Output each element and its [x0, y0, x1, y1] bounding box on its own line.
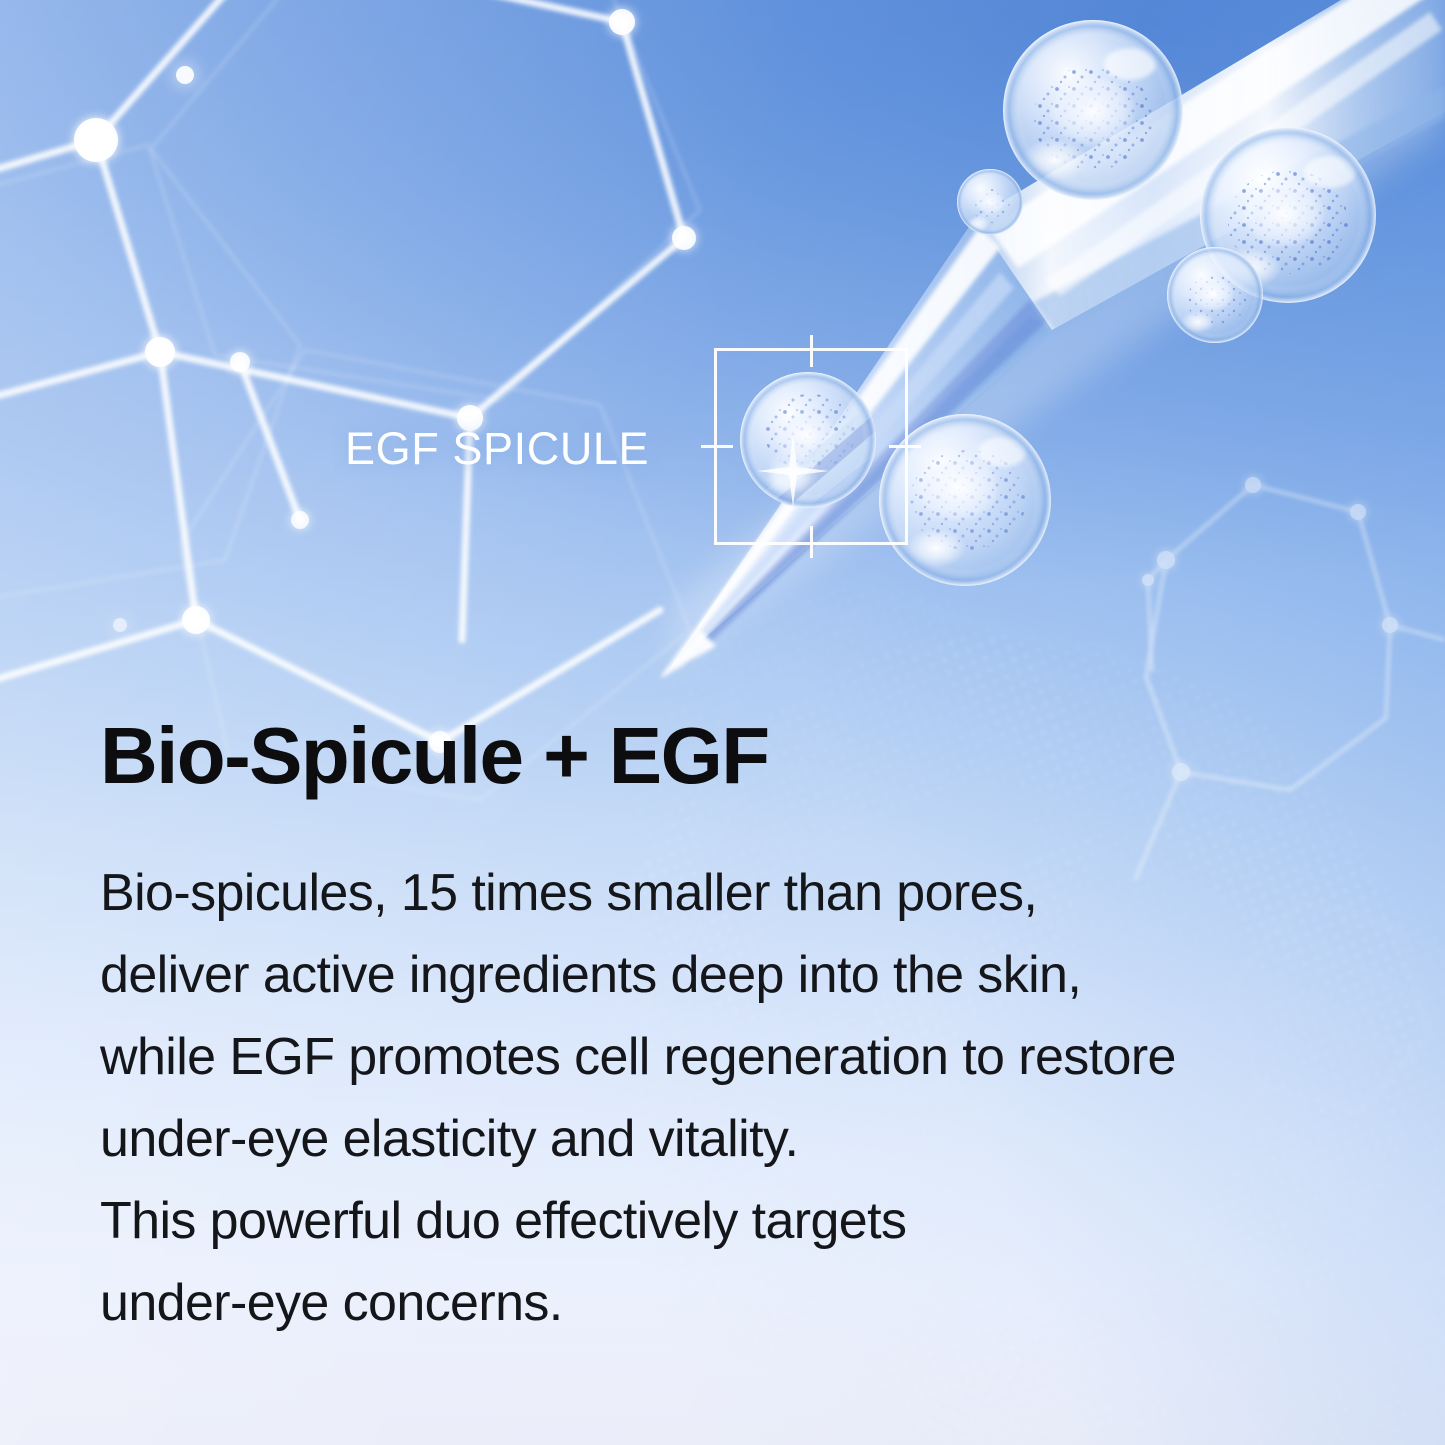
body-line: under-eye concerns.: [100, 1262, 1360, 1344]
crosshair-tick-right: [889, 445, 921, 448]
body-line: while EGF promotes cell regeneration to …: [100, 1016, 1360, 1098]
body-line: This powerful duo effectively targets: [100, 1180, 1360, 1262]
body-line: Bio-spicules, 15 times smaller than pore…: [100, 852, 1360, 934]
page-title: Bio-Spicule + EGF: [100, 716, 1360, 796]
copy-block: Bio-Spicule + EGF Bio-spicules, 15 times…: [100, 716, 1360, 1344]
body-copy: Bio-spicules, 15 times smaller than pore…: [100, 796, 1360, 1344]
target-frame: [714, 348, 908, 545]
product-feature-banner: EGF SPICULE Bio-Spicule + EGF Bio-spicul…: [0, 0, 1445, 1445]
crosshair-tick-bottom: [810, 526, 813, 558]
body-line: under-eye elasticity and vitality.: [100, 1098, 1360, 1180]
crosshair-tick-top: [810, 335, 813, 367]
egf-spicule-callout-label: EGF SPICULE: [345, 423, 649, 475]
crosshair-tick-left: [701, 445, 733, 448]
body-line: deliver active ingredients deep into the…: [100, 934, 1360, 1016]
